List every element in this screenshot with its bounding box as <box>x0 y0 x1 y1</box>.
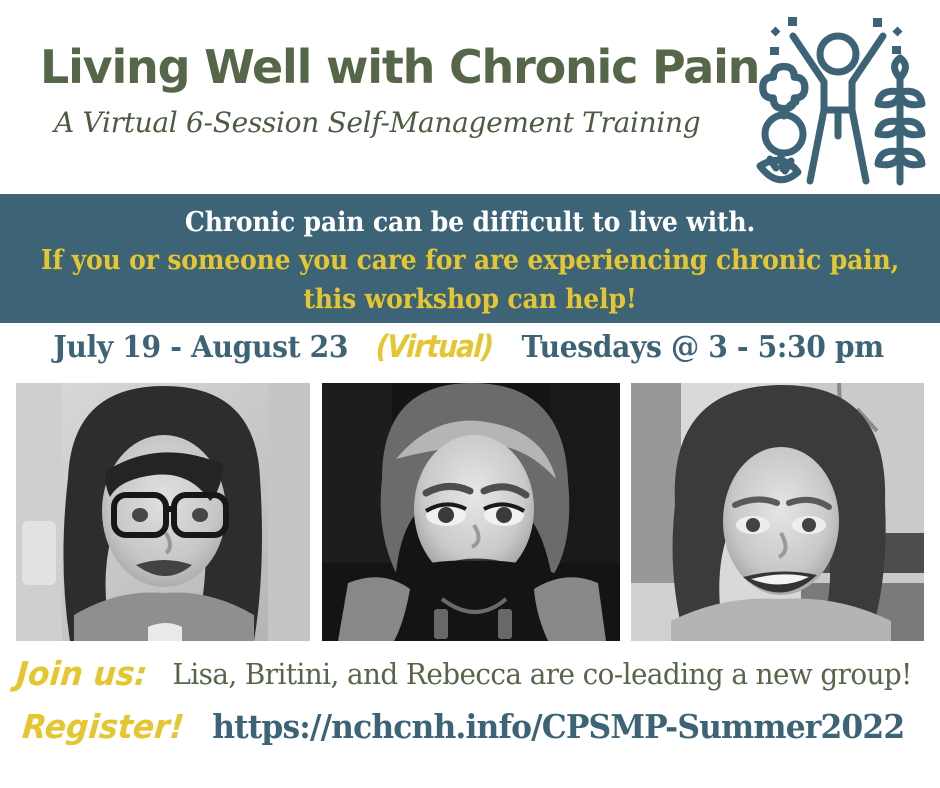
banner-line-2: If you or someone you care for are exper… <box>33 242 907 280</box>
registration-url[interactable]: https://nchcnh.info/CPSMP-Summer2022 <box>212 707 904 746</box>
banner-line-3: this workshop can help! <box>33 281 907 319</box>
schedule-dates: July 19 - August 23 <box>54 330 349 365</box>
schedule-line: July 19 - August 23 (Virtual) Tuesdays @… <box>0 329 940 365</box>
wellness-person-logo <box>748 6 934 186</box>
presenter-photo-row <box>0 383 940 641</box>
banner-line-1: Chronic pain can be difficult to live wi… <box>33 204 907 242</box>
portrait-rebecca <box>631 383 924 641</box>
footer: Join us:Lisa, Britini, and Rebecca are c… <box>0 648 940 788</box>
page-subtitle: A Virtual 6-Session Self-Management Trai… <box>54 106 760 139</box>
join-us-script: Join us: <box>15 654 155 693</box>
portrait-lisa <box>16 383 310 641</box>
register-script: Register! <box>20 707 191 746</box>
schedule-virtual-badge: (Virtual) <box>369 329 498 365</box>
title-block: Living Well with Chronic Pain A Virtual … <box>40 44 760 139</box>
header: Living Well with Chronic Pain A Virtual … <box>0 0 940 194</box>
poster-flyer: Living Well with Chronic Pain A Virtual … <box>0 0 940 788</box>
portrait-britini <box>322 383 620 641</box>
message-banner: Chronic pain can be difficult to live wi… <box>0 194 940 323</box>
presenter-names-text: Lisa, Britini, and Rebecca are co-leadin… <box>172 657 911 691</box>
join-line: Join us:Lisa, Britini, and Rebecca are c… <box>0 654 940 693</box>
page-title: Living Well with Chronic Pain <box>40 44 760 92</box>
register-line[interactable]: Register!https://nchcnh.info/CPSMP-Summe… <box>0 707 940 746</box>
schedule-times: Tuesdays @ 3 - 5:30 pm <box>522 330 884 365</box>
